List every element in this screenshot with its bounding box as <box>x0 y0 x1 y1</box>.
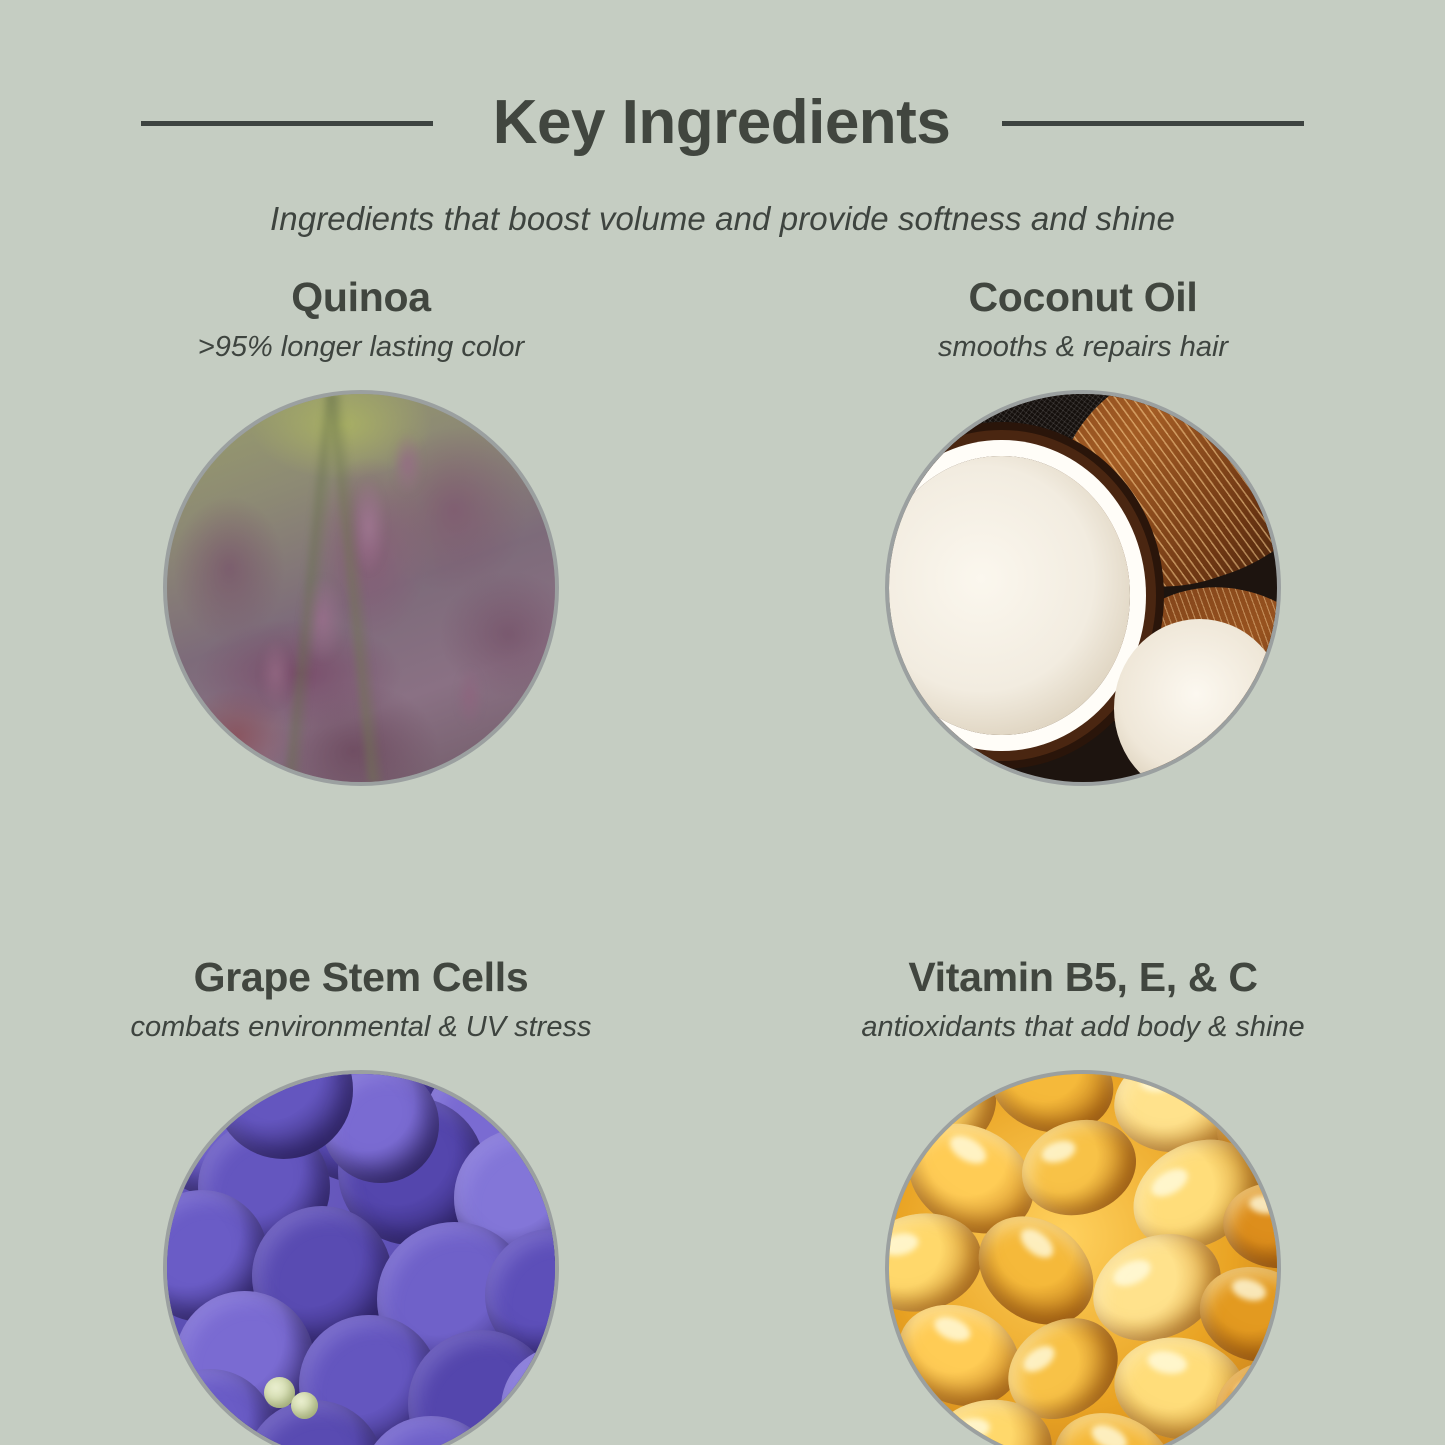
ingredient-benefit: >95% longer lasting color <box>198 331 524 364</box>
ingredient-card-quinoa: Quinoa >95% longer lasting color <box>0 276 722 786</box>
ingredients-grid: Quinoa >95% longer lasting color Coconut… <box>0 276 1445 1445</box>
ingredient-benefit: combats environmental & UV stress <box>131 1011 592 1044</box>
ingredient-image-quinoa <box>163 390 559 786</box>
page-title: Key Ingredients <box>493 92 951 154</box>
ingredient-name: Coconut Oil <box>968 276 1197 319</box>
ingredient-name: Vitamin B5, E, & C <box>908 956 1257 999</box>
ingredient-name: Grape Stem Cells <box>194 956 529 999</box>
purple-grapes-photo <box>167 1074 555 1445</box>
key-ingredients-infographic: Key Ingredients Ingredients that boost v… <box>0 0 1445 1445</box>
ingredient-card-vitamins: Vitamin B5, E, & C antioxidants that add… <box>722 956 1444 1445</box>
title-rule-right <box>1002 121 1304 126</box>
coconut-halves-photo <box>889 394 1277 782</box>
header: Key Ingredients Ingredients that boost v… <box>0 0 1445 238</box>
ingredient-image-vitamins <box>885 1070 1281 1445</box>
title-rule-left <box>141 121 433 126</box>
coconut-flesh-large <box>885 456 1130 735</box>
ingredients-row: Grape Stem Cells combats environmental &… <box>0 956 1445 1445</box>
title-row: Key Ingredients <box>0 78 1445 168</box>
quinoa-plant-photo <box>167 394 555 782</box>
ingredient-image-coconut-oil <box>885 390 1281 786</box>
ingredient-card-coconut-oil: Coconut Oil smooths & repairs hair <box>722 276 1444 786</box>
coconut-flesh-small <box>1114 619 1281 786</box>
ingredient-name: Quinoa <box>291 276 430 319</box>
page-subtitle: Ingredients that boost volume and provid… <box>0 200 1445 238</box>
ingredient-card-grape-stem-cells: Grape Stem Cells combats environmental &… <box>0 956 722 1445</box>
amber-softgel-capsules-photo <box>889 1074 1277 1445</box>
ingredient-benefit: antioxidants that add body & shine <box>861 1011 1304 1044</box>
ingredient-image-grape-stem-cells <box>163 1070 559 1445</box>
ingredient-benefit: smooths & repairs hair <box>938 331 1228 364</box>
ingredients-row: Quinoa >95% longer lasting color Coconut… <box>0 276 1445 786</box>
